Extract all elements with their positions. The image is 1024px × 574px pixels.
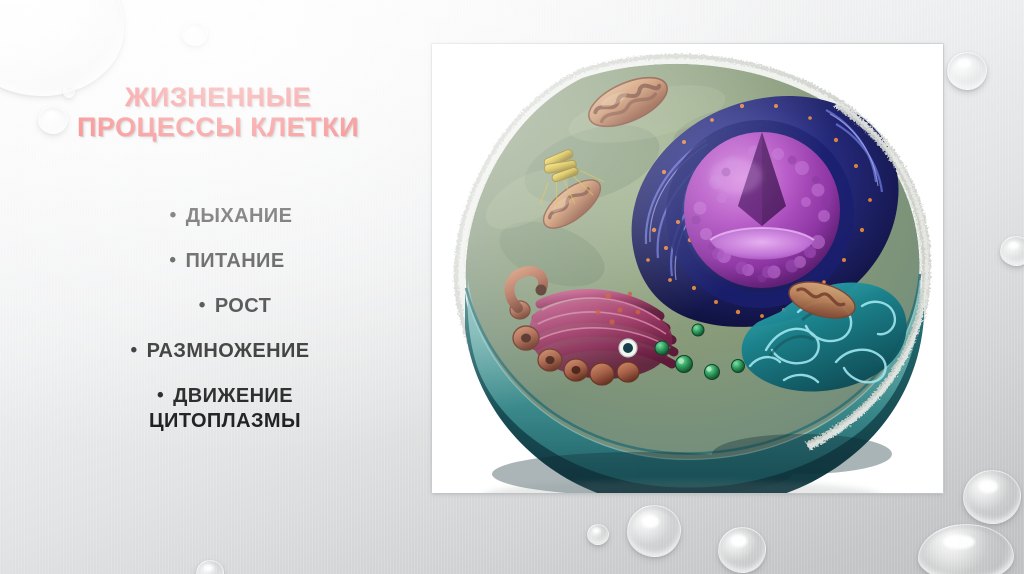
list-item-growth: •РОСТ <box>20 296 420 316</box>
list-item-label: ПИТАНИЕ <box>185 250 284 272</box>
droplet-bottom-left <box>196 560 224 574</box>
list-item-label: РАЗМНОЖЕНИЕ <box>147 340 310 362</box>
list-item-label: РОСТ <box>215 295 271 317</box>
list-item-nutrition: •ПИТАНИЕ <box>20 251 420 271</box>
bullet-list: •ДЫХАНИЕ •ПИТАНИЕ •РОСТ •РАЗМНОЖЕНИЕ •ДВ… <box>20 206 420 431</box>
droplet-bottom-center-c <box>718 527 766 573</box>
droplet-mid-right <box>1000 236 1024 266</box>
list-item-label: ДЫХАНИЕ <box>186 205 293 227</box>
list-item-label-line2: ЦИТОПЛАЗМЫ <box>30 411 420 431</box>
bullet-marker-icon: • <box>157 385 164 406</box>
title-line-2: ПРОЦЕССЫ КЛЕТКИ <box>20 112 416 142</box>
nucleus <box>684 132 840 288</box>
bullet-marker-icon: • <box>131 340 138 361</box>
droplet-top-right <box>947 52 987 90</box>
list-item-breath: •ДЫХАНИЕ <box>20 206 420 226</box>
list-item-motion: •ДВИЖЕНИЕ ЦИТОПЛАЗМЫ <box>20 386 420 431</box>
slide-title: ЖИЗНЕННЫЕ ПРОЦЕССЫ КЛЕТКИ <box>20 82 416 142</box>
droplet-bottom-center-b <box>627 505 681 557</box>
list-item-reproduction: •РАЗМНОЖЕНИЕ <box>20 341 420 361</box>
vesicle <box>619 339 637 357</box>
droplet-bottom-right-c <box>918 524 1014 574</box>
droplet-bottom-center-a <box>587 524 609 545</box>
bullet-marker-icon: • <box>169 250 176 271</box>
droplet-top-center <box>182 22 208 46</box>
droplet-bottom-right-b <box>963 470 1021 524</box>
bullet-marker-icon: • <box>199 295 206 316</box>
image-panel <box>432 44 943 493</box>
bullet-marker-icon: • <box>170 205 177 226</box>
animal-cell-diagram <box>432 44 943 493</box>
list-item-label: ДВИЖЕНИЕ <box>173 385 293 407</box>
presentation-slide: ЖИЗНЕННЫЕ ПРОЦЕССЫ КЛЕТКИ •ДЫХАНИЕ •ПИТА… <box>0 0 1024 574</box>
title-line-1: ЖИЗНЕННЫЕ <box>20 82 416 112</box>
